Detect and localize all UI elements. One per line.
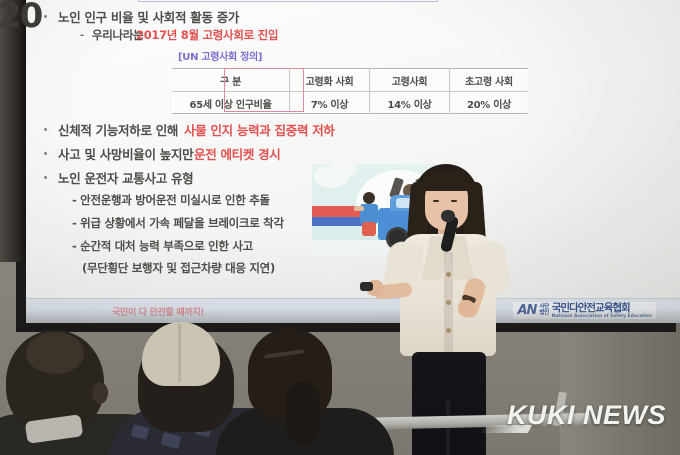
slide-footer-slogan: 국민이 다 안전할 때까지! <box>112 305 204 318</box>
sub-dash-1: - <box>80 30 84 41</box>
projection-screen: 노인 인구 비율 및 사회적 활동 증가 - 우리나라는 2017년 8월 고령… <box>26 0 680 323</box>
left-dark-post: 20 <box>0 0 26 262</box>
slide-bullet-2-red: 사물 인지 능력과 집중력 저하 <box>184 120 335 139</box>
slide-sub-bullet-2: - 위급 상황에서 가속 페달을 브레이크로 착각 <box>72 215 284 231</box>
un-definition-note: [UN 고령사회 정의] <box>178 48 262 63</box>
logo-text-block: 국민다안전교육협회 National Association of Safety… <box>552 303 652 318</box>
bullet-marker-4 <box>44 176 47 179</box>
person-legs <box>362 222 376 236</box>
slide-bullet-4: 노인 운전자 교통사고 유형 <box>58 168 193 187</box>
presentation-clicker-icon <box>360 282 373 291</box>
audience-3-ponytail <box>286 382 320 444</box>
logo-prefix-line-2: 법인 <box>539 311 548 317</box>
slide-bullet-2-plain: 신체적 기능저하로 인해 <box>58 120 178 139</box>
slide-top-box <box>138 0 438 2</box>
jacket-button <box>446 328 451 333</box>
aging-society-table: 구 분 고령화 사회 고령사회 초고령 사회 65세 이상 인구비율 7% 이상… <box>172 68 528 114</box>
watermark-logo: KUKI NEWS <box>507 400 666 431</box>
presenter-hand-right <box>458 300 475 317</box>
table-data-cell: 14% 이상 <box>370 92 450 114</box>
logo-prefix: 사단 법인 <box>539 305 548 316</box>
slide-sub-bullet-4: (무단횡단 보행자 및 접근차량 대응 지연) <box>82 260 275 276</box>
association-logo: AN 사단 법인 국민다안전교육협회 National Association … <box>513 302 656 319</box>
bullet-marker-2 <box>44 128 47 131</box>
table-data-cell: 7% 이상 <box>290 92 370 114</box>
left-post-number: 20 <box>0 0 41 36</box>
pattern-patch <box>131 424 149 440</box>
photo-scene: 노인 인구 비율 및 사회적 활동 증가 - 우리나라는 2017년 8월 고령… <box>0 0 680 455</box>
slide-bullet-3-plain: 사고 및 사망비율이 높지만 <box>58 144 193 163</box>
pattern-patch <box>161 432 182 449</box>
bullet-marker-1 <box>44 15 47 18</box>
presenter-figure <box>378 160 518 455</box>
audience-1-scalp <box>26 332 84 374</box>
person-head <box>363 192 375 204</box>
jacket-button <box>446 300 451 305</box>
audience-2-cap <box>142 322 220 386</box>
jacket-button <box>446 272 451 277</box>
table-data-cell: 65세 이상 인구비율 <box>172 92 290 114</box>
table-header-cell: 고령화 사회 <box>290 69 370 91</box>
table-header-cell: 초고령 사회 <box>450 69 528 91</box>
table-header-row: 구 분 고령화 사회 고령사회 초고령 사회 <box>172 69 528 91</box>
presenter-fringe <box>421 171 472 191</box>
presentation-slide: 노인 인구 비율 및 사회적 활동 증가 - 우리나라는 2017년 8월 고령… <box>26 0 680 323</box>
slide-bullet-1: 노인 인구 비율 및 사회적 활동 증가 <box>58 7 239 26</box>
slide-sub-bullet-1: - 안전운행과 방어운전 미실시로 인한 추돌 <box>72 192 270 208</box>
slide-sub-bullet-3: - 순간적 대처 능력 부족으로 인한 사고 <box>72 238 253 254</box>
audience-1-ear <box>92 382 108 404</box>
bullet-marker-3 <box>44 152 47 155</box>
slide-bullet-3-red: 운전 에티켓 경시 <box>194 144 281 163</box>
table-header-cell: 구 분 <box>172 69 290 91</box>
slide-bullet-1-sub-red: 2017년 8월 고령사회로 진입 <box>136 27 278 43</box>
table-header-cell: 고령사회 <box>370 69 450 91</box>
illustration-person-left <box>358 192 380 236</box>
person-arm <box>354 206 364 211</box>
logo-mark-icon: AN <box>517 303 536 318</box>
table-data-row: 65세 이상 인구비율 7% 이상 14% 이상 20% 이상 <box>172 91 528 114</box>
table-data-cell: 20% 이상 <box>450 92 528 114</box>
slide-footer-bar: 국민이 다 안전할 때까지! AN 사단 법인 국민다안전교육협회 Nation… <box>26 298 680 323</box>
audience-2-cap-seam <box>178 324 181 382</box>
audience-member-3 <box>232 328 382 455</box>
microphone-head-icon <box>441 210 455 222</box>
logo-english-name: National Association of Safety Education <box>552 314 652 318</box>
